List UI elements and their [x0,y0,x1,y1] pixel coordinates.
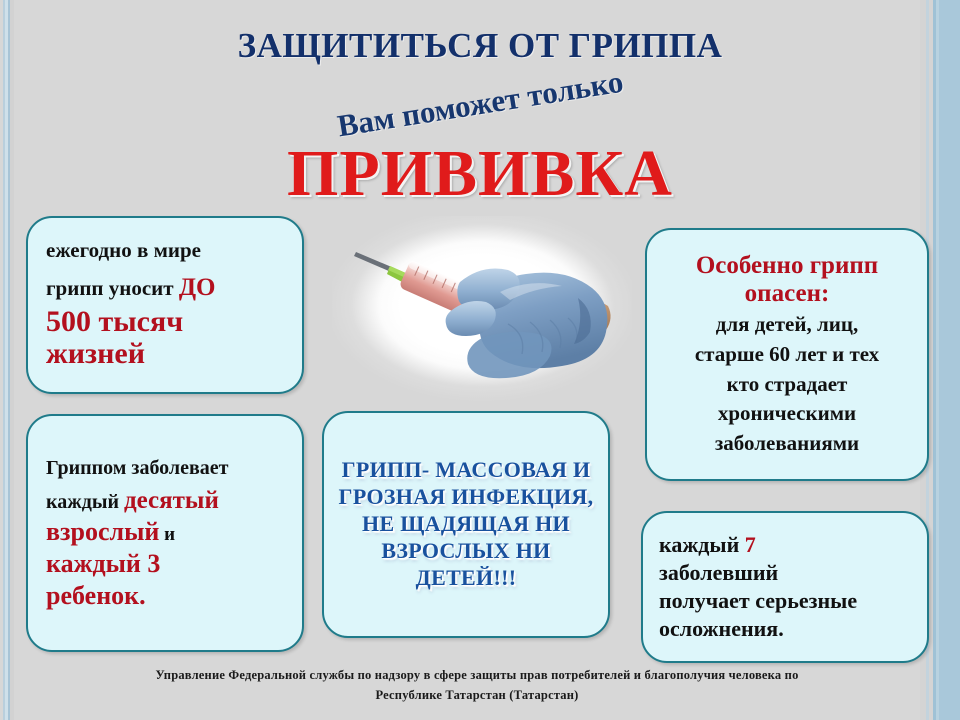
tenth-line2-black: каждый [46,491,124,513]
fact-box-especially-dangerous: Особенно грипп опасен: для детей, лиц, с… [645,228,929,481]
world-line3-word: тысяч [91,305,183,338]
world-line2-red: ДО [179,274,216,301]
tenth-line3: взрослый и [46,519,175,545]
footer-line2: Республике Татарстан (Татарстан) [40,685,914,706]
danger-body4: хроническими [718,401,856,427]
gloved-hand-with-syringe-image [332,216,632,402]
tenth-line2-red: десятый [124,487,219,514]
fact-box-world-deaths: ежегодно в мире грипп уносит ДО 500 тыся… [26,216,304,394]
seven-line2: заболевший [659,559,778,587]
world-line3: 500 тысяч [46,306,183,338]
poster-subtitle: Вам поможет только [335,64,626,145]
seven-line4: осложнения. [659,615,784,643]
world-line2-black: грипп уносит [46,276,179,300]
world-line2: грипп уносит ДО [46,275,216,300]
seven-line3: получает серьезные [659,587,857,615]
world-line3-number: 500 [46,305,91,338]
danger-body5: заболеваниями [715,431,859,457]
center-line2: ГРОЗНАЯ ИНФЕКЦИЯ, [339,484,594,511]
seven-line1-black: каждый [659,532,745,557]
world-line4: жизней [46,338,145,370]
footer-line1: Управление Федеральной службы по надзору… [40,665,914,686]
danger-head2: опасен: [745,280,830,308]
poster-canvas: ЗАЩИТИТЬСЯ ОТ ГРИППА Вам поможет только … [0,0,960,720]
poster-headline: ПРИВИВКА [0,136,960,212]
danger-body3: кто страдает [727,372,848,398]
center-line1: ГРИПП- МАССОВАЯ И [342,457,591,484]
seven-line1-red: 7 [745,532,756,557]
tenth-line5: ребенок. [46,583,146,609]
danger-body2: старше 60 лет и тех [695,342,879,368]
danger-head1: Особенно грипп [696,252,878,280]
tenth-line3-black: и [159,524,175,545]
footer-agency-credit: Управление Федеральной службы по надзору… [40,665,914,706]
world-line1: ежегодно в мире [46,240,201,261]
syringe-illustration-svg [332,216,632,402]
center-line3: НЕ ЩАДЯЩАЯ НИ [362,511,570,538]
seven-line1: каждый 7 [659,531,756,559]
danger-body1: для детей, лиц, [716,312,858,338]
fact-box-every-seventh: каждый 7 заболевший получает серьезные о… [641,511,929,663]
fact-box-every-tenth: Гриппом заболевает каждый десятый взросл… [26,414,304,652]
fact-box-mass-infection: ГРИПП- МАССОВАЯ И ГРОЗНАЯ ИНФЕКЦИЯ, НЕ Щ… [322,411,610,638]
tenth-line4: каждый 3 [46,551,160,577]
poster-title: ЗАЩИТИТЬСЯ ОТ ГРИППА [0,26,960,66]
tenth-line2: каждый десятый [46,488,219,513]
center-line4: ВЗРОСЛЫХ НИ [381,538,550,565]
center-line5: ДЕТЕЙ!!! [416,565,517,592]
tenth-line1: Гриппом заболевает [46,458,229,478]
tenth-line3-red: взрослый [46,517,159,546]
